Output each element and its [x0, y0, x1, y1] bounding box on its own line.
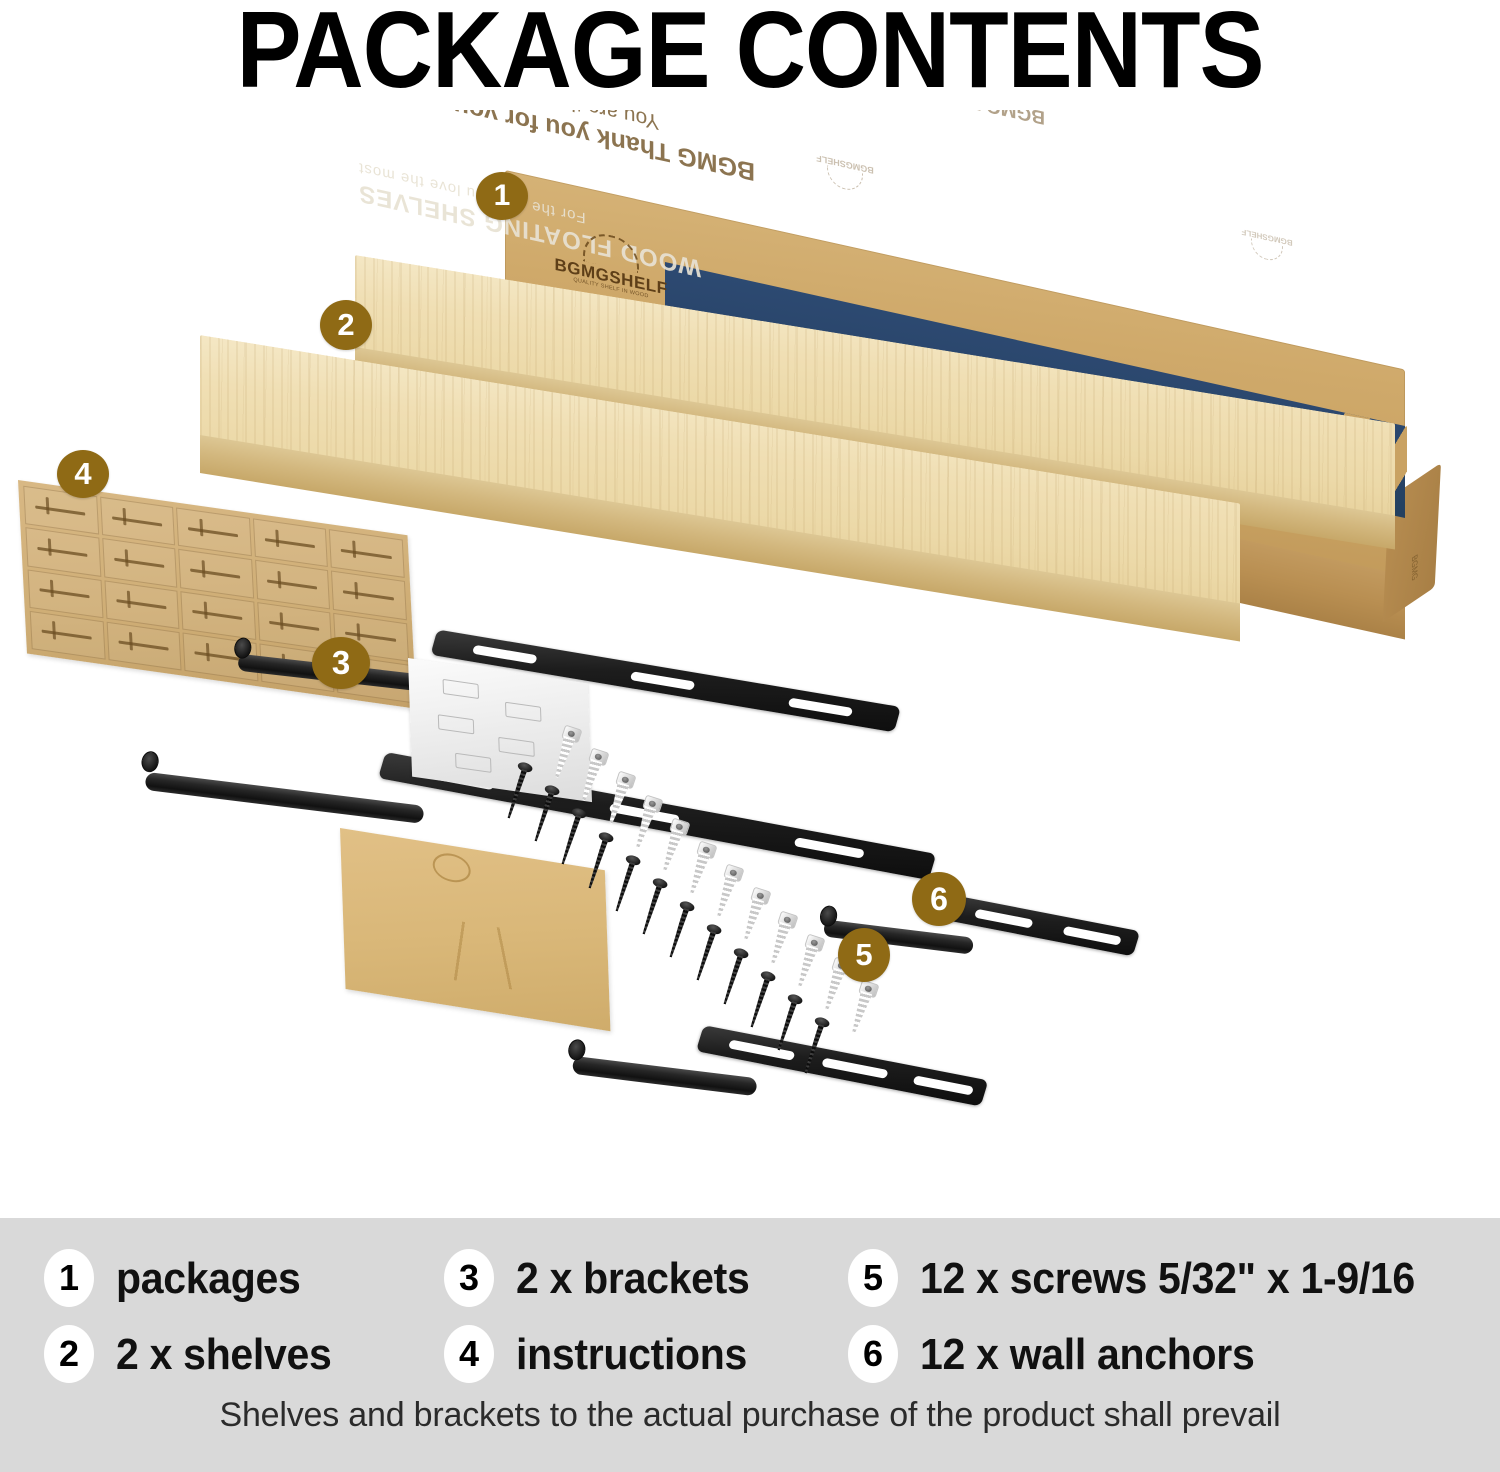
hardware-illustration-icon: [443, 679, 480, 699]
bracket-slot: [788, 698, 854, 717]
legend-item-label: packages: [116, 1253, 301, 1303]
hardware-illustration-icon: [455, 753, 492, 773]
callout-badge-2: 2: [320, 300, 372, 350]
legend-item-5: 512 x screws 5/32" x 1-9/16: [848, 1249, 1464, 1307]
bracket-wall-plate: [946, 895, 1140, 956]
legend-item-label: 12 x wall anchors: [920, 1329, 1254, 1379]
legend-number-badge: 6: [848, 1325, 898, 1383]
instruction-step-cell: [102, 538, 177, 587]
bracket-rod-arm: [572, 1056, 758, 1096]
instruction-step-cell: [28, 569, 103, 618]
legend-item-label: instructions: [516, 1329, 747, 1379]
instruction-step-cell: [106, 621, 181, 670]
instruction-step-cell: [253, 518, 328, 567]
bracket-slot: [821, 1058, 888, 1079]
legend-number-badge: 2: [44, 1325, 94, 1383]
bracket-slot: [794, 837, 865, 858]
carton-thanks-text-secondary: BGMG Thank you for your choice You are t…: [743, 110, 1045, 128]
instruction-step-cell: [25, 527, 100, 576]
instruction-step-cell: [100, 497, 175, 546]
logo-stamp-icon: [432, 851, 471, 885]
page-title: PACKAGE CONTENTS: [0, 0, 1500, 107]
bracket-slot: [974, 909, 1034, 929]
hardware-illustration-icon: [498, 737, 535, 757]
legend-number-badge: 5: [848, 1249, 898, 1307]
bracket-slot: [630, 671, 696, 690]
legend-item-label: 12 x screws 5/32" x 1-9/16: [920, 1253, 1415, 1303]
legend-number-badge: 1: [44, 1249, 94, 1307]
legend-item-4: 4instructions: [444, 1325, 848, 1383]
thanks-line-1-repeat: BGMG Thank you for your choice: [743, 110, 1045, 128]
bracket-rod-arm: [144, 772, 424, 824]
product-photo: WOOD FLOATING SHELVES For the one you lo…: [0, 110, 1500, 1218]
callout-badge-1: 1: [476, 172, 528, 220]
bracket-rod-cap: [140, 750, 161, 774]
legend-number-badge: 3: [444, 1249, 494, 1307]
bracket-slot: [1062, 926, 1122, 946]
legend-item-3: 32 x brackets: [444, 1249, 848, 1307]
bracket-slot: [472, 645, 538, 664]
callout-badge-6: 6: [912, 872, 966, 926]
brand-logo-watermark-b: BGMGSHELF: [1239, 214, 1295, 266]
hardware-illustration-icon: [438, 714, 475, 734]
legend-grid: 1packages32 x brackets512 x screws 5/32"…: [44, 1240, 1464, 1392]
legend-disclaimer: Shelves and brackets to the actual purch…: [0, 1396, 1500, 1435]
legend-item-1: 1packages: [44, 1249, 444, 1307]
carton-side-code: BGMG: [1405, 553, 1419, 614]
instruction-step-cell: [329, 529, 404, 578]
callout-badge-5: 5: [838, 928, 890, 982]
legend-item-label: 2 x brackets: [516, 1253, 749, 1303]
legend-item-6: 612 x wall anchors: [848, 1325, 1464, 1383]
envelope-line-art: [429, 916, 561, 997]
instruction-step-cell: [104, 580, 179, 629]
instruction-step-cell: [30, 611, 105, 660]
infographic-canvas: PACKAGE CONTENTS WOOD FLOATING SHELVES F…: [0, 0, 1500, 1472]
hardware-illustration-icon: [505, 702, 542, 722]
legend-panel: 1packages32 x brackets512 x screws 5/32"…: [0, 1218, 1500, 1472]
instruction-step-cell: [176, 507, 252, 556]
callout-badge-3: 3: [312, 637, 370, 689]
callout-badge-4: 4: [57, 450, 109, 498]
brand-logo-watermark-a: BGMGSHELF: [815, 141, 875, 196]
legend-item-2: 22 x shelves: [44, 1325, 444, 1383]
legend-number-badge: 4: [444, 1325, 494, 1383]
bracket-slot: [913, 1075, 975, 1095]
instruction-step-cell: [178, 549, 254, 598]
legend-item-label: 2 x shelves: [116, 1329, 332, 1379]
